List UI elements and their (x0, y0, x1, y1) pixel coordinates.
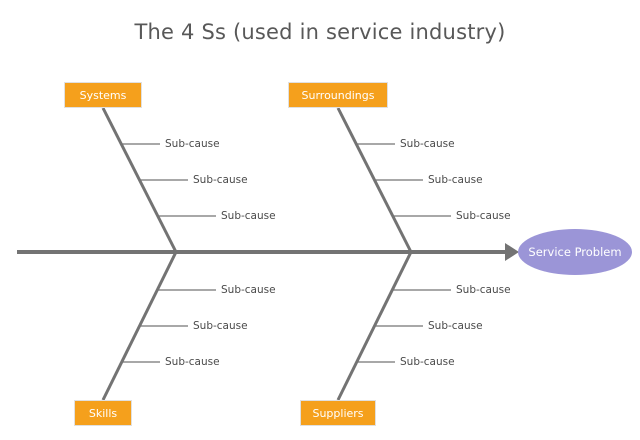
category-box-skills[interactable]: Skills (74, 400, 132, 426)
fishbone-skeleton (0, 0, 640, 440)
category-box-systems[interactable]: Systems (64, 82, 142, 108)
subcause-label-skills-2[interactable]: Sub-cause (193, 321, 248, 332)
subcause-label-suppliers-1[interactable]: Sub-cause (456, 285, 511, 296)
subcause-label-suppliers-3[interactable]: Sub-cause (400, 357, 455, 368)
subcause-label-suppliers-2[interactable]: Sub-cause (428, 321, 483, 332)
subcause-label-skills-1[interactable]: Sub-cause (221, 285, 276, 296)
subcause-label-systems-2[interactable]: Sub-cause (193, 175, 248, 186)
subcause-label-systems-3[interactable]: Sub-cause (221, 211, 276, 222)
category-box-suppliers[interactable]: Suppliers (300, 400, 376, 426)
subcause-label-surroundings-1[interactable]: Sub-cause (400, 139, 455, 150)
subcause-label-surroundings-3[interactable]: Sub-cause (456, 211, 511, 222)
subcause-label-skills-3[interactable]: Sub-cause (165, 357, 220, 368)
subcause-label-systems-1[interactable]: Sub-cause (165, 139, 220, 150)
category-box-surroundings[interactable]: Surroundings (288, 82, 388, 108)
fishbone-diagram-canvas: The 4 Ss (used in service industry) Syst… (0, 0, 640, 440)
effect-node-service-problem[interactable]: Service Problem (518, 229, 632, 275)
subcause-label-surroundings-2[interactable]: Sub-cause (428, 175, 483, 186)
spine-arrowhead (505, 243, 519, 261)
